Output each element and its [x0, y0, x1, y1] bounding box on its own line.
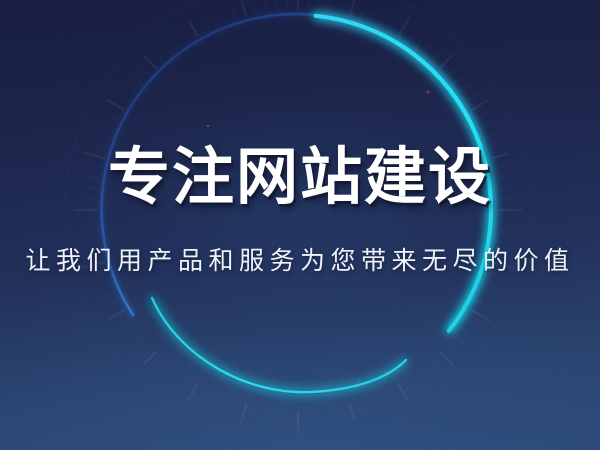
- ring-tick-minor: [103, 282, 111, 285]
- ring-tick-minor: [153, 359, 163, 371]
- ring-tick-minor: [276, 410, 277, 422]
- ring-tick-minor: [486, 282, 496, 286]
- ring-tick-minor: [222, 398, 226, 408]
- ring-tick-outer: [78, 79, 89, 86]
- ring-tick-minor: [499, 199, 511, 200]
- ring-tick-minor: [92, 231, 99, 232]
- ring-tick-minor: [482, 292, 495, 298]
- ring-tick-minor: [416, 39, 422, 47]
- ring-tick-outer: [539, 238, 553, 240]
- banner-text-block: 专注网站建设 让我们用产品和服务为您带来无尽的价值: [0, 0, 600, 450]
- ring-tick-major: [399, 17, 410, 36]
- ring-tick-minor: [454, 78, 461, 83]
- ring-tick-major: [492, 154, 508, 158]
- ring-tick-minor: [118, 93, 129, 100]
- page-subtitle: 让我们用产品和服务为您带来无尽的价值: [25, 241, 574, 277]
- ring-tick-minor: [380, 12, 386, 26]
- ring-tick-minor: [211, 394, 217, 407]
- background-texture: [0, 0, 600, 450]
- ring-tick-minor: [102, 135, 111, 138]
- ring-tick-marks: [41, 0, 558, 450]
- ring-tick-minor: [182, 31, 189, 42]
- ring-tick-outer: [168, 420, 173, 429]
- ring-tick-minor: [433, 359, 442, 369]
- ring-tick-outer: [102, 64, 109, 69]
- ring-tick-minor: [499, 221, 508, 222]
- ring-tick-outer: [415, 418, 422, 430]
- ring-tick-minor: [497, 241, 503, 242]
- ring-tick-minor: [482, 126, 488, 129]
- ring-main-arc: [102, 14, 492, 331]
- ring-tick-major: [350, 404, 354, 419]
- ring-tick-minor: [498, 231, 511, 232]
- ring-tick-outer: [47, 154, 54, 156]
- ring-tick-minor: [340, 3, 342, 14]
- ring-tick-minor: [360, 11, 363, 19]
- ring-tick-outer: [61, 281, 70, 284]
- ring-tick-minor: [233, 8, 236, 18]
- ring-tick-outer: [57, 129, 68, 133]
- ring-tick-outer: [217, 440, 220, 449]
- ring-tick-minor: [309, 0, 310, 9]
- ring-tick-minor: [137, 337, 142, 341]
- ring-tick-minor: [87, 221, 97, 222]
- ring-tick-minor: [156, 52, 164, 61]
- ring-tick-minor: [118, 320, 129, 327]
- ring-tick-minor: [447, 66, 458, 76]
- ring-tick-outer: [88, 352, 98, 359]
- ring-tick-major: [472, 100, 488, 109]
- ring-tick-minor: [454, 337, 464, 345]
- ring-tick-minor: [202, 22, 207, 31]
- ring-tick-minor: [495, 166, 506, 168]
- ring-tick-minor: [477, 301, 484, 305]
- ring-tick-minor: [87, 188, 98, 189]
- ring-tick-major: [143, 352, 156, 365]
- ring-tick-minor: [489, 144, 502, 148]
- ring-tick-outer: [194, 424, 200, 437]
- ring-tick-outer: [136, 25, 143, 33]
- ring-tick-minor: [264, 409, 267, 424]
- ring-tick-outer: [528, 135, 539, 139]
- outer-guide-ring: [65, 0, 531, 443]
- ring-tick-minor: [109, 301, 119, 306]
- ring-tick-minor: [319, 0, 320, 10]
- ring-tick-minor: [329, 4, 330, 11]
- ring-tick-minor: [489, 272, 496, 274]
- ring-tick-minor: [287, 0, 288, 9]
- ring-tick-major: [492, 262, 514, 268]
- ring-tick-major: [440, 54, 454, 68]
- ring-tick-outer: [84, 327, 91, 331]
- ring-tick-minor: [477, 113, 488, 119]
- ring-tick-minor: [174, 40, 180, 48]
- ring-tick-outer: [527, 109, 533, 112]
- ring-tick-outer: [440, 12, 445, 19]
- ring-tick-major: [107, 100, 124, 110]
- ring-tick-major: [350, 0, 356, 16]
- ring-tick-minor: [461, 85, 471, 92]
- ring-tick-outer: [539, 186, 552, 187]
- ring-tick-minor: [254, 407, 256, 416]
- ring-tick-minor: [425, 43, 434, 54]
- accent-speck: [207, 125, 209, 127]
- ring-tick-major: [110, 311, 124, 319]
- ring-tick-minor: [113, 116, 119, 119]
- ring-tick-minor: [329, 409, 331, 423]
- ring-tick-minor: [495, 252, 505, 254]
- ring-tick-major: [472, 311, 490, 321]
- ring-tick-outer: [527, 262, 537, 264]
- ring-tick-outer: [500, 63, 505, 66]
- ring-tick-minor: [497, 176, 511, 178]
- tech-ring-graphic: [0, 0, 600, 450]
- ring-tick-minor: [203, 389, 206, 396]
- ring-tick-minor: [360, 401, 364, 413]
- ring-tick-major: [80, 262, 104, 268]
- ring-tick-minor: [162, 42, 172, 54]
- ring-tick-minor: [467, 92, 480, 100]
- ring-tick-minor: [129, 88, 135, 92]
- ring-tick-outer: [63, 102, 70, 105]
- ring-tick-minor: [486, 134, 496, 138]
- accent-speck: [427, 91, 430, 94]
- ring-tick-minor: [211, 14, 217, 27]
- ring-tick-minor: [92, 143, 107, 148]
- ring-tick-outer: [48, 181, 59, 182]
- ring-tick-outer: [488, 352, 498, 359]
- ring-tick-minor: [433, 55, 438, 61]
- ring-tick-outer: [369, 439, 371, 445]
- ring-tick-outer: [512, 309, 522, 314]
- ring-tick-outer: [543, 159, 551, 161]
- ring-tick-minor: [265, 0, 267, 12]
- ring-tick-outer: [466, 18, 476, 28]
- ring-tick-minor: [389, 389, 394, 400]
- ring-tick-outer: [115, 367, 120, 372]
- ring-tick-minor: [461, 328, 469, 334]
- page-title: 专注网站建设: [108, 147, 492, 209]
- ring-tick-outer: [124, 390, 131, 398]
- ring-tick-minor: [223, 15, 226, 22]
- ring-tick-outer: [478, 46, 486, 53]
- ring-tick-outer: [49, 232, 59, 233]
- ring-tick-major: [440, 352, 454, 366]
- ring-tick-major: [84, 153, 104, 158]
- ring-tick-outer: [509, 335, 515, 339]
- accent-speck: [469, 261, 471, 263]
- ring-tick-minor: [408, 379, 416, 391]
- ring-tick-minor: [309, 411, 310, 422]
- ring-tick-minor: [370, 11, 374, 22]
- ring-tick-major: [188, 384, 198, 401]
- ring-tick-minor: [425, 366, 430, 372]
- ring-tick-minor: [133, 77, 142, 84]
- ring-tick-minor: [389, 23, 393, 31]
- ring-tick-minor: [416, 373, 423, 382]
- banner-root: 专注网站建设 让我们用产品和服务为您带来无尽的价值: [0, 0, 600, 450]
- ring-tick-minor: [275, 0, 277, 10]
- ring-tick-major: [144, 56, 156, 68]
- background-vignette: [0, 0, 600, 450]
- ring-tick-minor: [103, 123, 115, 128]
- ring-tick-outer: [59, 308, 71, 313]
- ring-tick-major: [240, 0, 246, 16]
- ring-tick-minor: [181, 379, 189, 391]
- ring-tick-outer: [396, 438, 400, 447]
- ring-tick-minor: [175, 373, 180, 380]
- ring-tick-minor: [498, 188, 506, 189]
- ring-tick-minor: [255, 5, 257, 13]
- ring-tick-outer: [479, 377, 485, 382]
- ring-tick-minor: [234, 401, 236, 407]
- ring-tick-minor: [467, 320, 480, 328]
- ring-tick-minor: [408, 36, 412, 41]
- ring-tick-minor: [92, 252, 101, 254]
- ring-tick-minor: [319, 410, 320, 417]
- ring-tick-minor: [340, 407, 342, 417]
- ring-tick-major: [240, 404, 246, 425]
- ring-tick-minor: [164, 366, 172, 375]
- ring-lower-arc: [152, 298, 406, 392]
- ring-tick-minor: [287, 411, 288, 419]
- ring-tick-outer: [153, 399, 157, 404]
- ring-tick-outer: [108, 35, 118, 45]
- ring-tick-major: [399, 384, 408, 399]
- ring-tick-minor: [370, 398, 373, 407]
- ring-tick-outer: [177, 0, 182, 3]
- ring-tick-minor: [93, 167, 101, 169]
- ring-tick-minor: [447, 345, 452, 349]
- ring-tick-outer: [529, 288, 535, 290]
- ring-tick-minor: [85, 176, 99, 178]
- ring-tick-major: [190, 23, 198, 36]
- ring-tick-minor: [87, 241, 100, 243]
- ring-tick-outer: [153, 5, 157, 10]
- ring-tick-minor: [138, 66, 149, 76]
- ring-tick-minor: [139, 345, 149, 354]
- ring-tick-outer: [455, 389, 464, 399]
- ring-tick-minor: [380, 394, 386, 408]
- ring-tick-outer: [507, 87, 517, 92]
- ring-tick-minor: [101, 292, 114, 298]
- ring-highlight-arc: [316, 16, 491, 331]
- ring-tick-outer: [41, 259, 55, 262]
- ring-tick-minor: [127, 328, 135, 334]
- ring-tick-minor: [96, 272, 107, 276]
- ring-tick-outer: [441, 412, 446, 419]
